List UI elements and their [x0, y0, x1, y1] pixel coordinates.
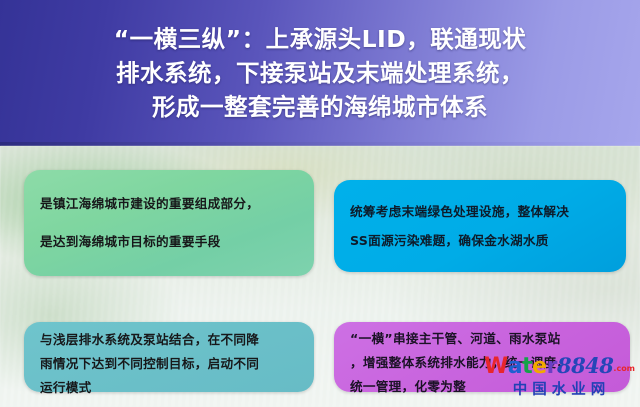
watermark-letter-r: r — [547, 356, 557, 378]
watermark-letter-a: a — [508, 356, 522, 378]
callout-box-cyan: 统筹考虑末端绿色处理设施，整体解决 SS面源污染难题，确保金水湖水质 — [334, 180, 626, 272]
watermark-tld: .com — [613, 365, 635, 373]
callout-line: 与浅层排水系统及泵站结合，在不同降 — [40, 328, 298, 352]
callout-box-teal: 与浅层排水系统及泵站结合，在不同降 雨情况下达到不同控制目标，启动不同 运行模式 — [24, 322, 314, 392]
header-banner: “一横三纵”：上承源头LID，联通现状 排水系统，下接泵站及末端处理系统， 形成… — [0, 0, 640, 146]
watermark-number: 8848 — [557, 355, 613, 376]
callout-line: “一横”串接主干管、河道、雨水泵站 — [350, 327, 614, 351]
watermark-letter-t: t — [522, 356, 532, 378]
callout-line: 是达到海绵城市目标的重要手段 — [40, 227, 298, 257]
callout-box-green: 是镇江海绵城市建设的重要组成部分， 是达到海绵城市目标的重要手段 — [24, 170, 314, 276]
callout-line: 雨情况下达到不同控制目标，启动不同 — [40, 352, 298, 376]
watermark-letter-e: e — [532, 356, 546, 378]
watermark-chinese: 中国水业网 — [484, 383, 634, 398]
watermark-letter-w: W — [484, 356, 508, 378]
callout-line: 是镇江海绵城市建设的重要组成部分， — [40, 189, 298, 219]
callout-line: 统筹考虑末端绿色处理设施，整体解决 — [350, 199, 610, 224]
callout-line: 运行模式 — [40, 376, 298, 400]
watermark-logo: Water8848.com 中国水业网 — [484, 355, 634, 403]
page-title: “一横三纵”：上承源头LID，联通现状 排水系统，下接泵站及末端处理系统， 形成… — [20, 22, 620, 124]
slide-canvas: “一横三纵”：上承源头LID，联通现状 排水系统，下接泵站及末端处理系统， 形成… — [0, 0, 640, 407]
callout-line: SS面源污染难题，确保金水湖水质 — [350, 228, 610, 253]
watermark-wordmark: Water8848.com — [484, 355, 634, 378]
